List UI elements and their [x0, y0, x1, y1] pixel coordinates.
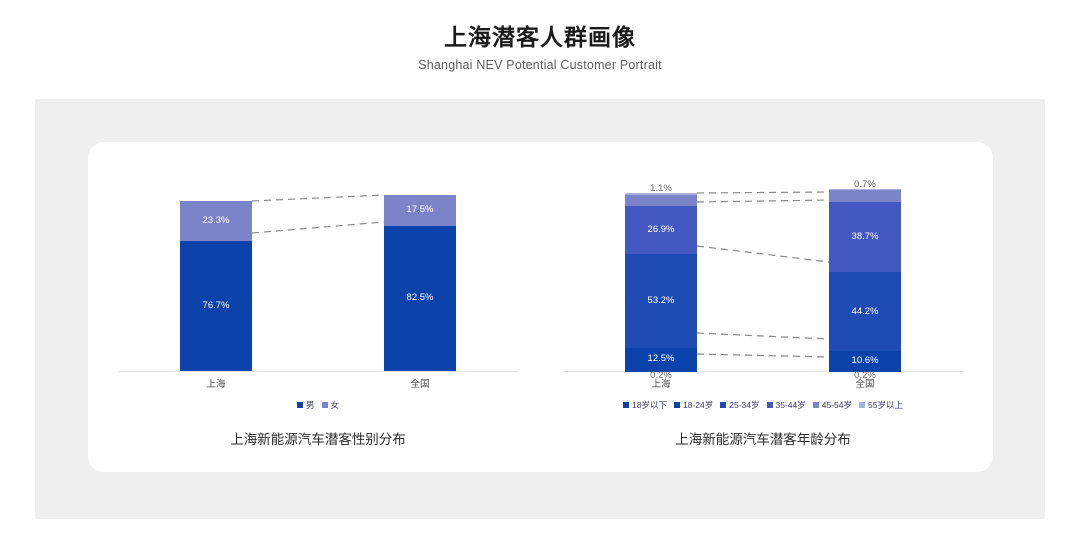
age-bar-shanghai: 1.1% 6.1% 26.9% 53.2% 12.5% 0. — [625, 193, 697, 371]
age-category-labels: 上海 全国 — [543, 378, 983, 392]
age-segment-label: 26.9% — [648, 225, 675, 235]
legend-swatch-icon — [720, 402, 726, 408]
legend-label: 45-54岁 — [822, 400, 852, 410]
gender-segment-female-national: 17.5% — [384, 195, 456, 226]
chart-gender-distribution: 23.3% 76.7% 17.5% 82.5% 上海 全 — [98, 142, 538, 472]
legend-swatch-icon — [859, 402, 865, 408]
legend-label: 55岁以上 — [868, 400, 903, 410]
age-segment-45-54-shanghai: 6.1% — [625, 195, 697, 206]
gender-bar-national: 17.5% 82.5% — [384, 195, 456, 371]
age-axis-line — [563, 371, 963, 372]
age-bar-national: 0.7% 6.5% 38.7% 44.2% 10.6% 0. — [829, 189, 901, 371]
age-chart-caption: 上海新能源汽车潜客年龄分布 — [543, 430, 983, 450]
age-plot-area: 1.1% 6.1% 26.9% 53.2% 12.5% 0. — [543, 184, 983, 372]
legend-label: 女 — [331, 400, 340, 410]
age-segment-25-34-national: 44.2% — [829, 272, 901, 352]
legend-swatch-icon — [623, 402, 629, 408]
legend-swatch-icon — [813, 402, 819, 408]
legend-item-35-44[interactable]: 35-44岁 — [767, 400, 806, 410]
legend-item-55-plus[interactable]: 55岁以上 — [859, 400, 903, 410]
gender-plot-area: 23.3% 76.7% 17.5% 82.5% — [98, 184, 538, 372]
gender-connector-lines — [98, 184, 538, 372]
age-segment-25-34-shanghai: 53.2% — [625, 254, 697, 349]
legend-label: 25-34岁 — [729, 400, 759, 410]
legend-swatch-icon — [674, 402, 680, 408]
legend-swatch-icon — [322, 402, 328, 408]
legend-item-under-18[interactable]: 18岁以下 — [623, 400, 667, 410]
age-segment-label: 53.2% — [648, 296, 675, 306]
gender-segment-male-shanghai: 76.7% — [180, 241, 252, 371]
legend-label: 18-24岁 — [683, 400, 713, 410]
gender-segment-label: 23.3% — [203, 216, 230, 226]
gender-segment-label: 76.7% — [203, 301, 230, 311]
legend-swatch-icon — [297, 402, 303, 408]
gender-chart-caption: 上海新能源汽车潜客性别分布 — [98, 430, 538, 450]
age-segment-18-24-national: 10.6% — [829, 351, 901, 370]
age-segment-35-44-shanghai: 26.9% — [625, 206, 697, 254]
gender-bar-shanghai: 23.3% 76.7% — [180, 201, 252, 371]
gender-category-label-national: 全国 — [375, 378, 465, 392]
charts-card: 23.3% 76.7% 17.5% 82.5% 上海 全 — [88, 142, 993, 472]
page-header: 上海潜客人群画像 Shanghai NEV Potential Customer… — [0, 22, 1080, 73]
page-subtitle: Shanghai NEV Potential Customer Portrait — [0, 57, 1080, 73]
age-segment-label: 0.7% — [854, 180, 876, 190]
gender-legend: 男 女 — [98, 400, 538, 410]
page-root: 上海潜客人群画像 Shanghai NEV Potential Customer… — [0, 0, 1080, 547]
legend-item-male[interactable]: 男 — [297, 400, 315, 410]
legend-item-female[interactable]: 女 — [322, 400, 340, 410]
age-segment-35-44-national: 38.7% — [829, 202, 901, 272]
gender-category-label-shanghai: 上海 — [171, 378, 261, 392]
page-title: 上海潜客人群画像 — [0, 22, 1080, 52]
age-segment-18-24-shanghai: 12.5% — [625, 348, 697, 370]
age-segment-label: 44.2% — [852, 307, 879, 317]
age-segment-label: 1.1% — [650, 184, 672, 194]
legend-item-18-24[interactable]: 18-24岁 — [674, 400, 713, 410]
age-segment-label: 12.5% — [648, 354, 675, 364]
chart-age-distribution: 1.1% 6.1% 26.9% 53.2% 12.5% 0. — [543, 142, 983, 472]
age-connector-lines — [543, 184, 983, 372]
age-segment-label: 10.6% — [852, 356, 879, 366]
legend-item-45-54[interactable]: 45-54岁 — [813, 400, 852, 410]
legend-label: 男 — [306, 400, 315, 410]
legend-swatch-icon — [767, 402, 773, 408]
gender-axis-line — [118, 371, 518, 372]
gender-category-labels: 上海 全国 — [98, 378, 538, 392]
legend-label: 18岁以下 — [632, 400, 667, 410]
age-segment-45-54-national: 6.5% — [829, 190, 901, 202]
age-segment-label: 38.7% — [852, 232, 879, 242]
gender-segment-male-national: 82.5% — [384, 226, 456, 371]
gender-segment-label: 82.5% — [407, 293, 434, 303]
legend-label: 35-44岁 — [776, 400, 806, 410]
age-category-label-national: 全国 — [820, 378, 910, 392]
gender-segment-female-shanghai: 23.3% — [180, 201, 252, 241]
legend-item-25-34[interactable]: 25-34岁 — [720, 400, 759, 410]
gender-segment-label: 17.5% — [407, 205, 434, 215]
age-legend: 18岁以下 18-24岁 25-34岁 35-44岁 45-54岁 — [543, 400, 983, 410]
age-category-label-shanghai: 上海 — [616, 378, 706, 392]
